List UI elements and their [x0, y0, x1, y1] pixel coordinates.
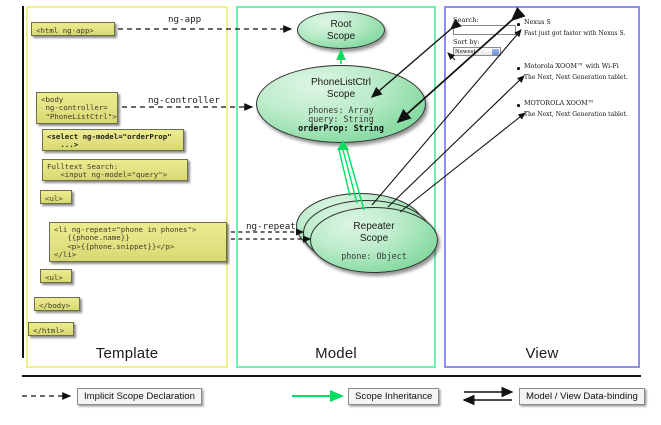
phone-list-item[interactable]: MOTOROLA XOOM™ The Next, Next Generation…	[524, 99, 636, 119]
column-label-model: Model	[238, 345, 434, 362]
code-box-html-close-tag: </html>	[28, 322, 74, 336]
code-box-li-repeat-tag: <li ng-repeat="phone in phones"> {{phone…	[49, 222, 227, 262]
phone-list-item[interactable]: Nexus S Fast just got faster with Nexus …	[524, 18, 636, 38]
view-sort-label: Sort by:	[453, 38, 480, 46]
view-sort-select[interactable]: Newest	[453, 47, 501, 56]
phone-list-item[interactable]: Motorola XOOM™ with Wi-Fi The Next, Next…	[524, 62, 636, 82]
phonelist-scope-prop-orderprop: orderProp: String	[257, 123, 425, 133]
root-scope-title-1: Root	[298, 19, 384, 31]
diagram-canvas: Template Model View <html ng-app> <body …	[0, 0, 661, 425]
code-box-ul-close-tag: <ul>	[40, 269, 72, 283]
edge-label-ng-controller: ng-controller	[148, 95, 220, 106]
legend-item-implicit-scope-declaration: Implicit Scope Declaration	[77, 388, 202, 405]
view-sort-selected-value: Newest	[455, 49, 476, 55]
phonelist-scope-title-1: PhoneListCtrl	[257, 77, 425, 89]
edge-label-ng-repeat: ng-repeat	[246, 221, 296, 232]
scope-ellipse-repeater: Repeater Scope phone: Object	[310, 207, 438, 273]
legend-item-scope-inheritance: Scope Inheritance	[348, 388, 439, 405]
left-vertical-rule	[22, 6, 24, 358]
phone-snippet: The Next, Next Generation tablet.	[524, 74, 636, 82]
root-scope-title-2: Scope	[298, 31, 384, 43]
list-bullet	[517, 23, 520, 26]
legend-glyph-double	[464, 392, 512, 400]
code-box-body-tag: <body ng-controller= "PhoneListCtrl">	[36, 92, 118, 124]
legend-divider	[22, 375, 641, 377]
phone-snippet: Fast just got faster with Nexus S.	[524, 30, 636, 38]
legend-item-model-view-data-binding: Model / View Data-binding	[519, 388, 645, 405]
code-box-ul-open-tag: <ul>	[40, 190, 72, 204]
list-bullet	[517, 104, 520, 107]
chevron-down-icon	[492, 49, 499, 55]
code-box-body-close-tag: </body>	[34, 297, 80, 311]
view-search-label: Search:	[453, 16, 479, 24]
view-search-input[interactable]	[453, 25, 516, 35]
phone-name: Nexus S	[524, 18, 636, 26]
column-label-view: View	[446, 345, 638, 362]
phone-snippet: The Next, Next Generation tablet.	[524, 111, 636, 119]
column-label-template: Template	[28, 345, 226, 362]
column-model: Model	[236, 6, 436, 368]
phone-name: Motorola XOOM™ with Wi-Fi	[524, 62, 636, 70]
phonelist-scope-title-2: Scope	[257, 89, 425, 101]
scope-ellipse-root: Root Scope	[297, 11, 385, 49]
edge-label-ng-app: ng-app	[168, 14, 201, 25]
repeater-scope-prop-phone: phone: Object	[311, 251, 437, 261]
code-box-html-tag: <html ng-app>	[31, 22, 115, 36]
column-template: Template	[26, 6, 228, 368]
scope-ellipse-phonelistctrl: PhoneListCtrl Scope phones: Array query:…	[256, 65, 426, 143]
repeater-scope-title-1: Repeater	[311, 221, 437, 233]
code-box-input-tag: Fulltext Search: <input ng-model="query"…	[42, 159, 188, 181]
list-bullet	[517, 67, 520, 70]
repeater-scope-title-2: Scope	[311, 233, 437, 245]
column-view: View	[444, 6, 640, 368]
phone-name: MOTOROLA XOOM™	[524, 99, 636, 107]
code-box-select-tag: <select ng-model="orderProp" ...>	[42, 129, 184, 151]
